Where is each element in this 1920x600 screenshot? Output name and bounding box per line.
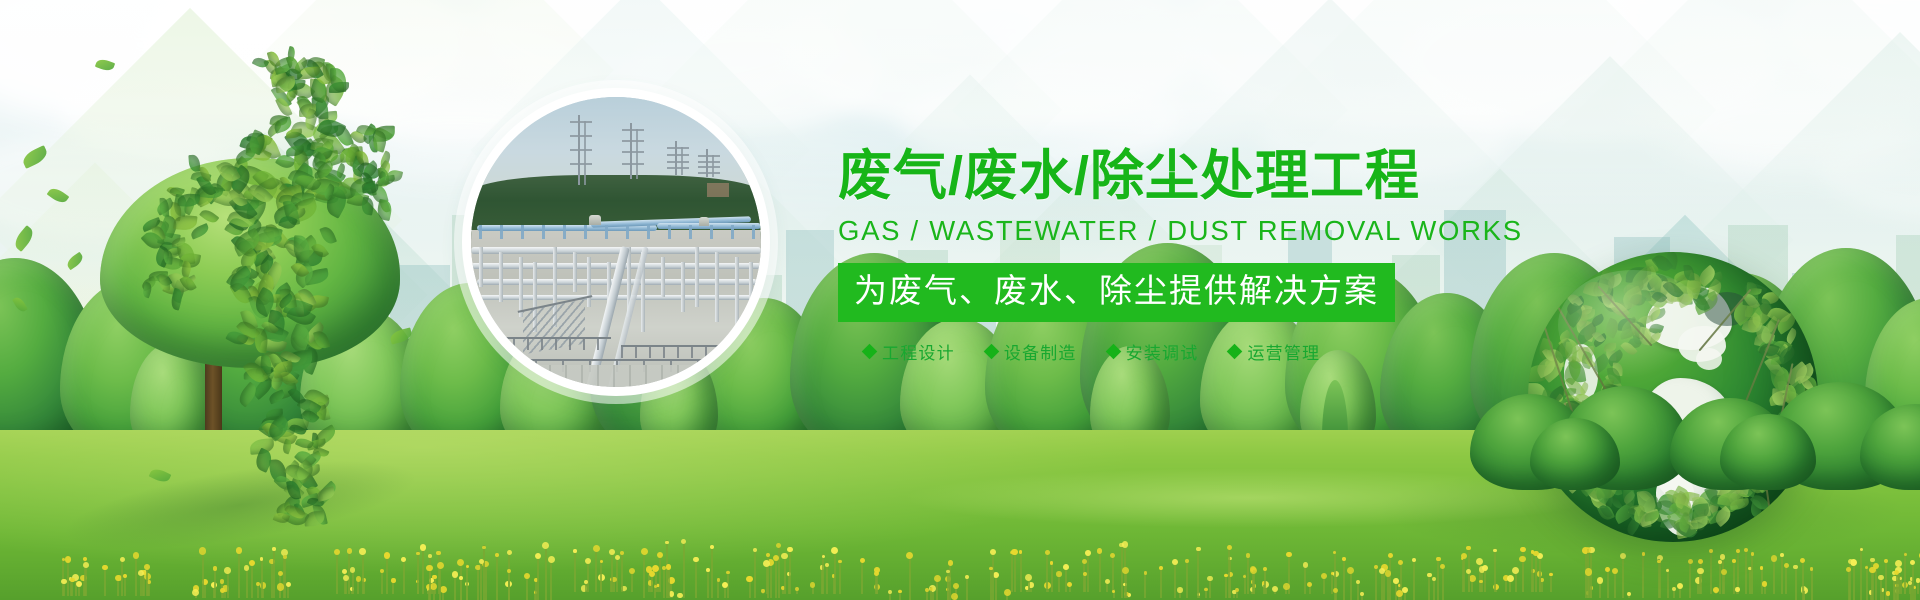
flower-cluster-14 bbox=[1690, 544, 1795, 594]
photo-post-1 bbox=[479, 247, 483, 287]
eco-engineering-banner: 废气/废水/除尘处理工程 GAS / WASTEWATER / DUST REM… bbox=[0, 0, 1920, 600]
flower-cluster-10 bbox=[1240, 546, 1340, 594]
photo-blue-pipe-3 bbox=[657, 223, 761, 229]
service-item-label: 设备制造 bbox=[1004, 339, 1077, 364]
photo-distant-building bbox=[707, 183, 729, 197]
service-item-label: 运营管理 bbox=[1247, 339, 1320, 364]
flower-cluster-7 bbox=[880, 542, 1005, 600]
wastewater-plant-photo-circle bbox=[462, 88, 770, 396]
flower-cluster-17 bbox=[1870, 548, 1920, 594]
diamond-icon bbox=[984, 343, 1000, 359]
diamond-icon bbox=[1227, 343, 1243, 359]
diamond-icon bbox=[1105, 343, 1121, 359]
photo-post-13 bbox=[695, 247, 699, 307]
tagline-banner: 为废气、废水、除尘提供解决方案 bbox=[838, 263, 1395, 322]
service-item-3: 安装调试 bbox=[1108, 339, 1199, 364]
service-item-1: 工程设计 bbox=[864, 339, 955, 364]
flower-cluster-12 bbox=[1460, 540, 1570, 592]
service-item-label: 工程设计 bbox=[882, 339, 955, 364]
photo-post-6 bbox=[573, 252, 577, 292]
wastewater-plant-photo bbox=[471, 97, 761, 387]
flower-cluster-13 bbox=[1560, 538, 1690, 598]
flower-cluster-1 bbox=[190, 540, 310, 598]
leaf-man-running-figure bbox=[135, 48, 445, 518]
photo-tank-2 bbox=[699, 217, 709, 226]
photo-post-7 bbox=[587, 257, 591, 307]
page-subtitle: GAS / WASTEWATER / DUST REMOVAL WORKS bbox=[838, 215, 1518, 247]
service-item-4: 运营管理 bbox=[1229, 339, 1320, 364]
diamond-icon bbox=[862, 343, 878, 359]
headline-text-block: 废气/废水/除尘处理工程 GAS / WASTEWATER / DUST REM… bbox=[838, 148, 1518, 364]
flower-cluster-9 bbox=[1110, 536, 1245, 598]
service-item-label: 安装调试 bbox=[1126, 339, 1199, 364]
flower-cluster-3 bbox=[420, 538, 550, 600]
flower-cluster-16 bbox=[60, 546, 170, 596]
photo-post-16 bbox=[749, 262, 753, 302]
photo-post-15 bbox=[735, 257, 739, 337]
photo-post-11 bbox=[661, 257, 665, 297]
photo-tank-edge bbox=[471, 365, 761, 387]
flower-cluster-6 bbox=[760, 540, 875, 594]
flower-cluster-5 bbox=[640, 534, 780, 598]
photo-post-14 bbox=[715, 252, 719, 322]
flower-cluster-8 bbox=[1010, 542, 1115, 592]
page-title: 废气/废水/除尘处理工程 bbox=[838, 148, 1518, 205]
flower-cluster-11 bbox=[1330, 544, 1450, 600]
photo-post-12 bbox=[681, 262, 685, 312]
photo-post-3 bbox=[519, 257, 523, 317]
service-list: 工程设计设备制造安装调试运营管理 bbox=[864, 339, 1518, 364]
photo-tank-1 bbox=[589, 215, 601, 225]
photo-post-2 bbox=[499, 252, 503, 302]
globe-base-bushes bbox=[1470, 350, 1920, 490]
service-item-2: 设备制造 bbox=[986, 339, 1077, 364]
